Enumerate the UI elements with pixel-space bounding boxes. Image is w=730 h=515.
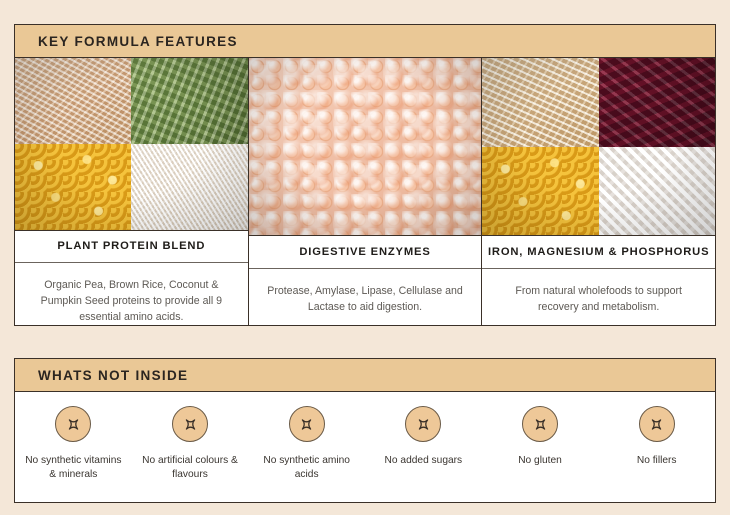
exclusion-label: No synthetic vitamins & minerals [21, 454, 125, 482]
no-cross-icon [405, 406, 441, 442]
feature-description-cell: Organic Pea, Brown Rice, Coconut & Pumpk… [15, 263, 248, 325]
list-item: No synthetic vitamins & minerals [15, 406, 132, 482]
whats-not-inside-panel: WHATS NOT INSIDE No synthetic vitamins &… [14, 358, 716, 503]
feature-description-cell: From natural wholefoods to support recov… [482, 269, 715, 325]
mineral-wholefoods-photo [482, 58, 715, 236]
exclusions-panel-header: WHATS NOT INSIDE [15, 359, 715, 392]
product-features-infographic: KEY FORMULA FEATURES PLANT PROTEIN BLEND… [0, 0, 730, 515]
exclusion-label: No gluten [518, 454, 562, 468]
feature-column-plant-protein: PLANT PROTEIN BLEND Organic Pea, Brown R… [15, 58, 249, 325]
key-formula-features-panel: KEY FORMULA FEATURES PLANT PROTEIN BLEND… [14, 24, 716, 326]
feature-column-digestive-enzymes: DIGESTIVE ENZYMES Protease, Amylase, Lip… [249, 58, 483, 325]
list-item: No gluten [482, 406, 599, 468]
no-cross-icon [289, 406, 325, 442]
feature-title-cell: IRON, MAGNESIUM & PHOSPHORUS [482, 236, 715, 269]
brown-rice-photo-region [15, 58, 131, 144]
plant-protein-ingredients-photo [15, 58, 248, 231]
yellow-peas-photo-region [482, 147, 598, 236]
features-panel-header: KEY FORMULA FEATURES [15, 25, 715, 58]
feature-description-cell: Protease, Amylase, Lipase, Cellulase and… [249, 269, 482, 325]
exclusions-list: No synthetic vitamins & minerals No arti… [15, 392, 715, 502]
oat-grains-photo-region [482, 58, 598, 147]
feature-description: Protease, Amylase, Lipase, Cellulase and… [265, 283, 466, 315]
exclusion-label: No fillers [637, 454, 677, 468]
exclusion-label: No added sugars [385, 454, 463, 468]
pumpkin-seeds-photo-region [131, 58, 247, 144]
no-cross-icon [55, 406, 91, 442]
list-item: No fillers [598, 406, 715, 468]
no-cross-icon [522, 406, 558, 442]
exclusion-label: No artificial colours & flavours [138, 454, 242, 482]
salt-flakes-photo-region [599, 147, 715, 236]
no-cross-icon [639, 406, 675, 442]
list-item: No synthetic amino acids [248, 406, 365, 482]
shredded-coconut-photo-region [131, 144, 247, 230]
feature-title-cell: DIGESTIVE ENZYMES [249, 236, 482, 269]
features-header-title: KEY FORMULA FEATURES [15, 34, 238, 49]
feature-title: PLANT PROTEIN BLEND [57, 240, 205, 252]
no-cross-icon [172, 406, 208, 442]
list-item: No artificial colours & flavours [132, 406, 249, 482]
feature-title: IRON, MAGNESIUM & PHOSPHORUS [488, 246, 709, 258]
feature-description: Organic Pea, Brown Rice, Coconut & Pumpk… [31, 277, 232, 325]
list-item: No added sugars [365, 406, 482, 468]
exclusions-header-title: WHATS NOT INSIDE [15, 368, 188, 383]
split-peas-photo-region [15, 144, 131, 230]
feature-description: From natural wholefoods to support recov… [498, 283, 699, 315]
feature-title-cell: PLANT PROTEIN BLEND [15, 231, 248, 263]
digestive-enzyme-beads-photo [249, 58, 482, 236]
enzyme-beads-photo-region [249, 58, 482, 235]
feature-column-minerals: IRON, MAGNESIUM & PHOSPHORUS From natura… [482, 58, 715, 325]
features-columns: PLANT PROTEIN BLEND Organic Pea, Brown R… [15, 58, 715, 325]
exclusion-label: No synthetic amino acids [255, 454, 359, 482]
dulse-seaweed-photo-region [599, 58, 715, 147]
feature-title: DIGESTIVE ENZYMES [299, 246, 430, 258]
